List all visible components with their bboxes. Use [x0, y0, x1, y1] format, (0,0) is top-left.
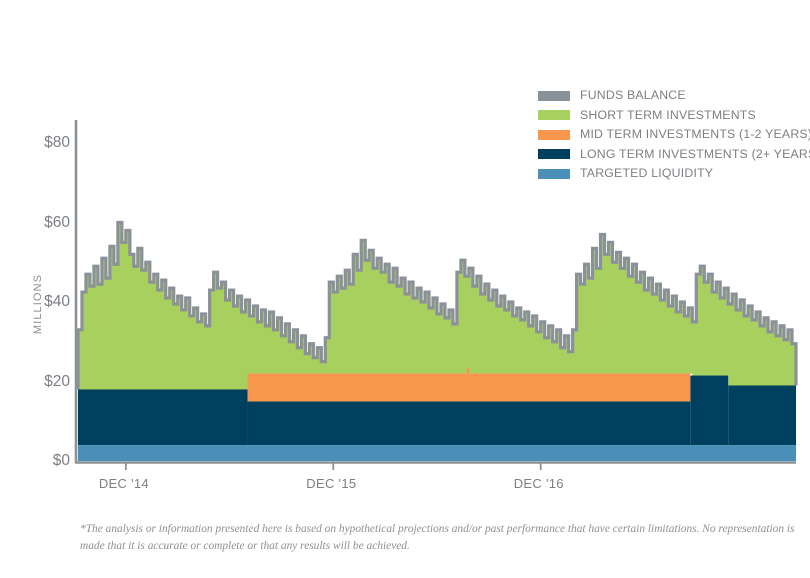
chart-footnote: *The analysis or information presented h…: [80, 521, 796, 554]
mid-term-band-0: [248, 374, 691, 402]
y-tick-0: $0: [24, 452, 70, 470]
x-tick-0: DEC '14: [99, 476, 149, 491]
long-term-band-0: [78, 389, 248, 445]
chart-plot-area: [0, 0, 810, 578]
mid-term-spike: [467, 368, 469, 374]
x-tick-2: DEC '16: [514, 476, 564, 491]
y-tick-80: $80: [24, 134, 70, 152]
long-term-band-3: [728, 385, 796, 445]
y-axis-title: MILLIONS: [32, 244, 44, 364]
y-tick-20: $20: [24, 373, 70, 391]
long-term-band-1: [248, 401, 691, 445]
y-tick-60: $60: [24, 214, 70, 232]
y-tick-40: $40: [24, 293, 70, 311]
x-tick-1: DEC '15: [306, 476, 356, 491]
targeted-liquidity-band-0: [78, 445, 796, 461]
long-term-band-2: [690, 376, 728, 446]
chart-root: FUNDS BALANCESHORT TERM INVESTMENTSMID T…: [0, 0, 810, 578]
